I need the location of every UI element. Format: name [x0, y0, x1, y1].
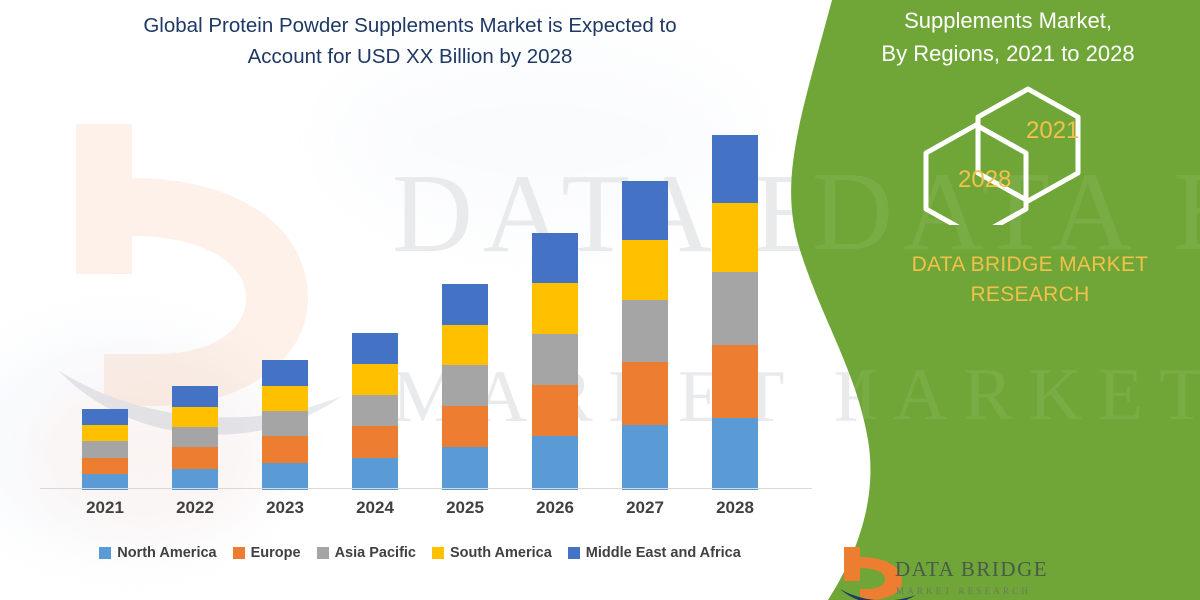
bar-segment-asia-pacific: [82, 441, 128, 457]
bar-column-2028: [712, 135, 758, 490]
bar-column-2025: [442, 284, 488, 490]
chart-title-line-1: Global Protein Powder Supplements Market…: [143, 14, 676, 37]
bar-segment-asia-pacific: [622, 300, 668, 362]
bar-segment-europe: [622, 362, 668, 425]
bar-segment-middle-east-and-africa: [532, 233, 578, 283]
panel-title: Supplements Market, By Regions, 2021 to …: [828, 4, 1188, 70]
bar-segment-middle-east-and-africa: [82, 409, 128, 425]
bar-column-2022: [172, 386, 218, 490]
bar-column-2026: [532, 233, 578, 490]
bar-segment-north-america: [172, 469, 218, 490]
hexagon-2021-label: 2021: [1026, 117, 1079, 145]
bar-segment-asia-pacific: [442, 365, 488, 406]
bar-segment-north-america: [442, 447, 488, 490]
bar-segment-asia-pacific: [532, 334, 578, 385]
bar-segment-north-america: [352, 458, 398, 490]
panel-brand-line-2: RESEARCH: [970, 283, 1089, 306]
panel-title-line-2: By Regions, 2021 to 2028: [881, 41, 1134, 66]
legend-label: Middle East and Africa: [586, 545, 741, 561]
chart-title-line-2: Account for USD XX Billion by 2028: [248, 45, 573, 68]
x-axis-label-2021: 2021: [65, 498, 145, 518]
bar-segment-middle-east-and-africa: [442, 284, 488, 325]
bar-segment-europe: [262, 436, 308, 462]
bar-segment-south-america: [82, 425, 128, 441]
x-axis-labels: 20212022202320242025202620272028: [40, 498, 812, 528]
bar-segment-north-america: [712, 418, 758, 490]
bar-segment-europe: [82, 458, 128, 474]
legend-label: North America: [117, 545, 216, 561]
logo-subtext: MARKET RESEARCH: [896, 586, 1031, 596]
x-axis-label-2025: 2025: [425, 498, 505, 518]
hexagon-2028-label: 2028: [958, 166, 1011, 194]
bar-segment-south-america: [622, 240, 668, 301]
x-axis-label-2027: 2027: [605, 498, 685, 518]
legend-item-middle-east-and-africa[interactable]: Middle East and Africa: [568, 545, 741, 561]
legend-item-south-america[interactable]: South America: [432, 545, 552, 561]
chart-title: Global Protein Powder Supplements Market…: [60, 10, 760, 72]
x-axis-line: [40, 488, 812, 489]
bar-segment-north-america: [262, 463, 308, 490]
bar-column-2021: [82, 409, 128, 490]
bar-segment-asia-pacific: [172, 427, 218, 447]
legend-item-asia-pacific[interactable]: Asia Pacific: [317, 545, 416, 561]
legend-label: Europe: [251, 545, 301, 561]
legend-item-europe[interactable]: Europe: [233, 545, 301, 561]
bar-segment-north-america: [622, 425, 668, 490]
x-axis-label-2023: 2023: [245, 498, 325, 518]
bar-segment-middle-east-and-africa: [712, 135, 758, 203]
bar-segment-europe: [442, 406, 488, 448]
bar-segment-middle-east-and-africa: [352, 333, 398, 364]
legend-label: Asia Pacific: [335, 545, 416, 561]
bar-segment-asia-pacific: [712, 272, 758, 345]
x-axis-label-2026: 2026: [515, 498, 595, 518]
logo-text: DATA BRIDGE: [895, 557, 1048, 582]
bar-segment-south-america: [532, 283, 578, 334]
bar-segment-south-america: [172, 407, 218, 427]
bar-segment-asia-pacific: [352, 395, 398, 426]
panel-brand-line-1: DATA BRIDGE MARKET: [912, 253, 1149, 276]
bar-segment-north-america: [532, 436, 578, 490]
bar-segment-europe: [712, 345, 758, 418]
panel-brand: DATA BRIDGE MARKET RESEARCH: [880, 250, 1180, 310]
chart-plot-area: [40, 100, 810, 490]
bar-segment-europe: [352, 426, 398, 457]
stacked-bar-series: [40, 100, 810, 490]
bar-segment-asia-pacific: [262, 411, 308, 436]
bar-segment-south-america: [352, 364, 398, 394]
hexagon-pair: [920, 85, 1120, 225]
legend-item-north-america[interactable]: North America: [99, 545, 216, 561]
legend-swatch-icon: [568, 547, 580, 559]
bar-segment-europe: [172, 447, 218, 468]
bar-segment-south-america: [262, 386, 308, 411]
x-axis-label-2022: 2022: [155, 498, 235, 518]
legend-swatch-icon: [432, 547, 444, 559]
bar-column-2027: [622, 181, 668, 490]
chart-legend: North AmericaEuropeAsia PacificSouth Ame…: [40, 540, 800, 566]
x-axis-label-2024: 2024: [335, 498, 415, 518]
bar-column-2023: [262, 360, 308, 490]
bar-segment-south-america: [712, 203, 758, 272]
legend-swatch-icon: [317, 547, 329, 559]
legend-label: South America: [450, 545, 552, 561]
bar-segment-south-america: [442, 325, 488, 366]
bar-segment-middle-east-and-africa: [622, 181, 668, 240]
bar-segment-middle-east-and-africa: [172, 386, 218, 407]
bar-column-2024: [352, 333, 398, 490]
panel-title-line-1: Supplements Market,: [904, 8, 1112, 33]
bar-segment-europe: [532, 385, 578, 437]
legend-swatch-icon: [233, 547, 245, 559]
legend-swatch-icon: [99, 547, 111, 559]
infographic-root: DATA BRIDGE MARKET RESEARCH Global Prote…: [0, 0, 1200, 600]
bar-segment-middle-east-and-africa: [262, 360, 308, 385]
